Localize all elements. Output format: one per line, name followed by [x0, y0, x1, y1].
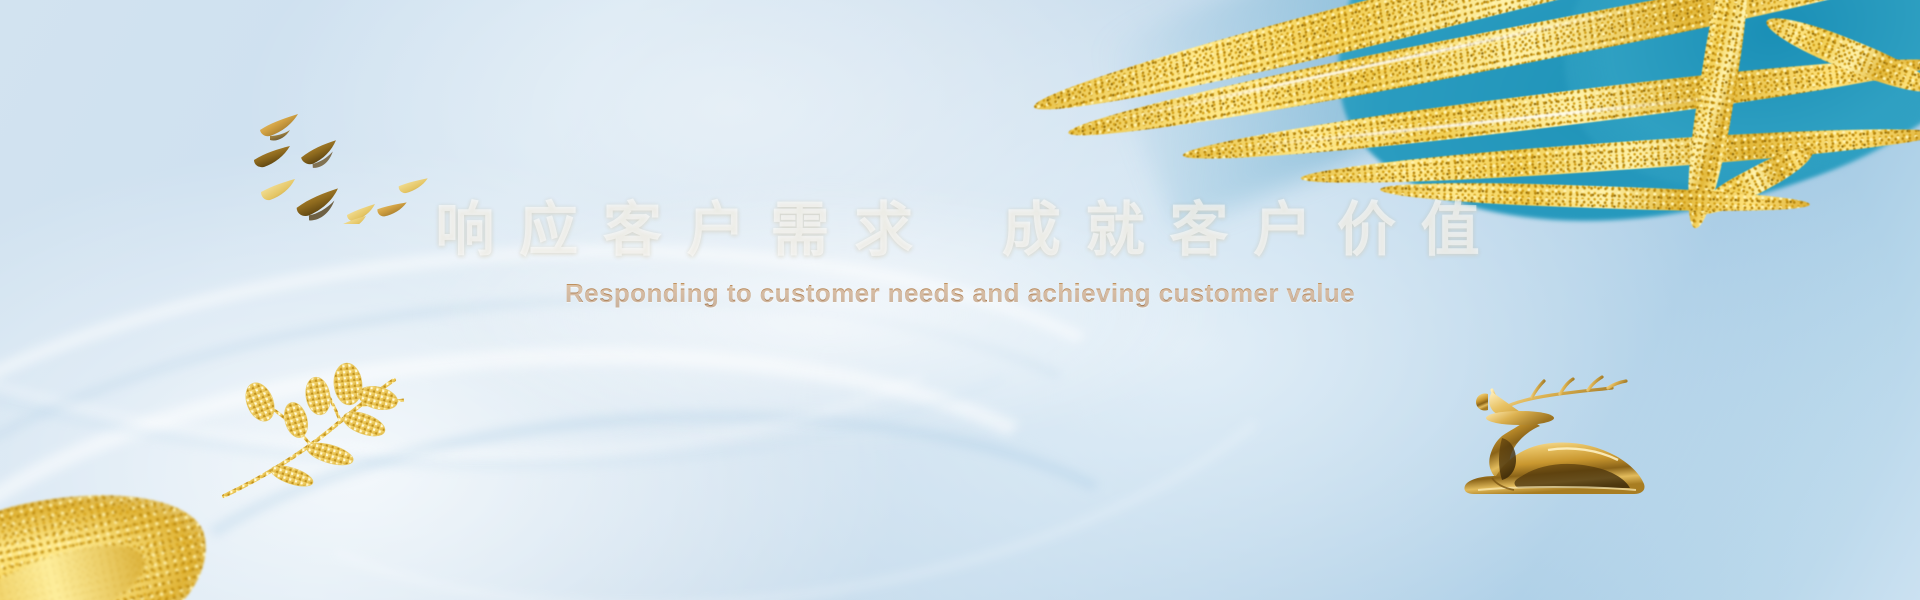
leaf-pod	[340, 407, 388, 441]
bird-icon	[254, 146, 290, 167]
leaf-sprig	[218, 358, 428, 503]
deer-sculpture-icon	[1448, 368, 1653, 498]
leaf-pod	[332, 362, 364, 407]
deer-sculpture	[1448, 368, 1653, 498]
banner-copy: 响 应 客 户 需 求 成 就 客 户 价 值 Responding to cu…	[0, 196, 1920, 309]
leaf-pod	[280, 400, 311, 441]
leaf-pod	[240, 379, 279, 426]
deer-ear	[1476, 393, 1488, 410]
hero-banner: 响 应 客 户 需 求 成 就 客 户 价 值 Responding to cu…	[0, 0, 1920, 600]
leaf-pod	[303, 375, 333, 417]
deer-crown	[1486, 411, 1554, 425]
bird-icon	[300, 140, 338, 169]
bird-icon	[398, 175, 428, 195]
leaf-pod	[269, 462, 316, 491]
page-title: 响 应 客 户 需 求 成 就 客 户 价 值	[0, 196, 1920, 262]
leaf-pod	[356, 382, 400, 413]
antlers	[1492, 377, 1626, 408]
bird-icon	[260, 114, 298, 141]
leaf-sprig-icon	[218, 358, 428, 503]
page-subtitle: Responding to customer needs and achievi…	[0, 278, 1920, 309]
